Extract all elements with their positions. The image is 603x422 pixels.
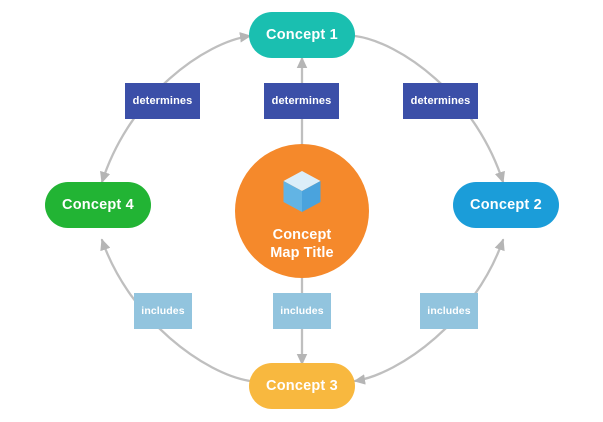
edge-label-includes-right-text: includes (427, 305, 470, 317)
hub-title: Concept Map Title (270, 226, 333, 262)
cube-icon (282, 170, 322, 219)
edge-label-includes-left-text: includes (141, 305, 184, 317)
edge-label-includes-left[interactable]: includes (134, 293, 192, 329)
edge-label-determines-right-text: determines (411, 95, 471, 107)
hub-node[interactable]: Concept Map Title (235, 144, 369, 278)
edge-label-determines-right[interactable]: determines (403, 83, 478, 119)
node-concept-3[interactable]: Concept 3 (249, 363, 355, 409)
edge-label-determines-left[interactable]: determines (125, 83, 200, 119)
edge-label-includes-center[interactable]: includes (273, 293, 331, 329)
hub-title-line2: Map Title (270, 244, 333, 262)
node-concept-2[interactable]: Concept 2 (453, 182, 559, 228)
node-concept-4[interactable]: Concept 4 (45, 182, 151, 228)
node-concept-4-label: Concept 4 (62, 197, 134, 213)
node-concept-3-label: Concept 3 (266, 378, 338, 394)
concept-map-diagram: Concept Map Title Concept 1 Concept 2 Co… (0, 0, 603, 422)
edge-label-includes-right[interactable]: includes (420, 293, 478, 329)
edge-label-determines-left-text: determines (133, 95, 193, 107)
hub-title-line1: Concept (270, 226, 333, 244)
edge-label-determines-center[interactable]: determines (264, 83, 339, 119)
edge-label-includes-center-text: includes (280, 305, 323, 317)
node-concept-1[interactable]: Concept 1 (249, 12, 355, 58)
edge-label-determines-center-text: determines (272, 95, 332, 107)
node-concept-2-label: Concept 2 (470, 197, 542, 213)
node-concept-1-label: Concept 1 (266, 27, 338, 43)
